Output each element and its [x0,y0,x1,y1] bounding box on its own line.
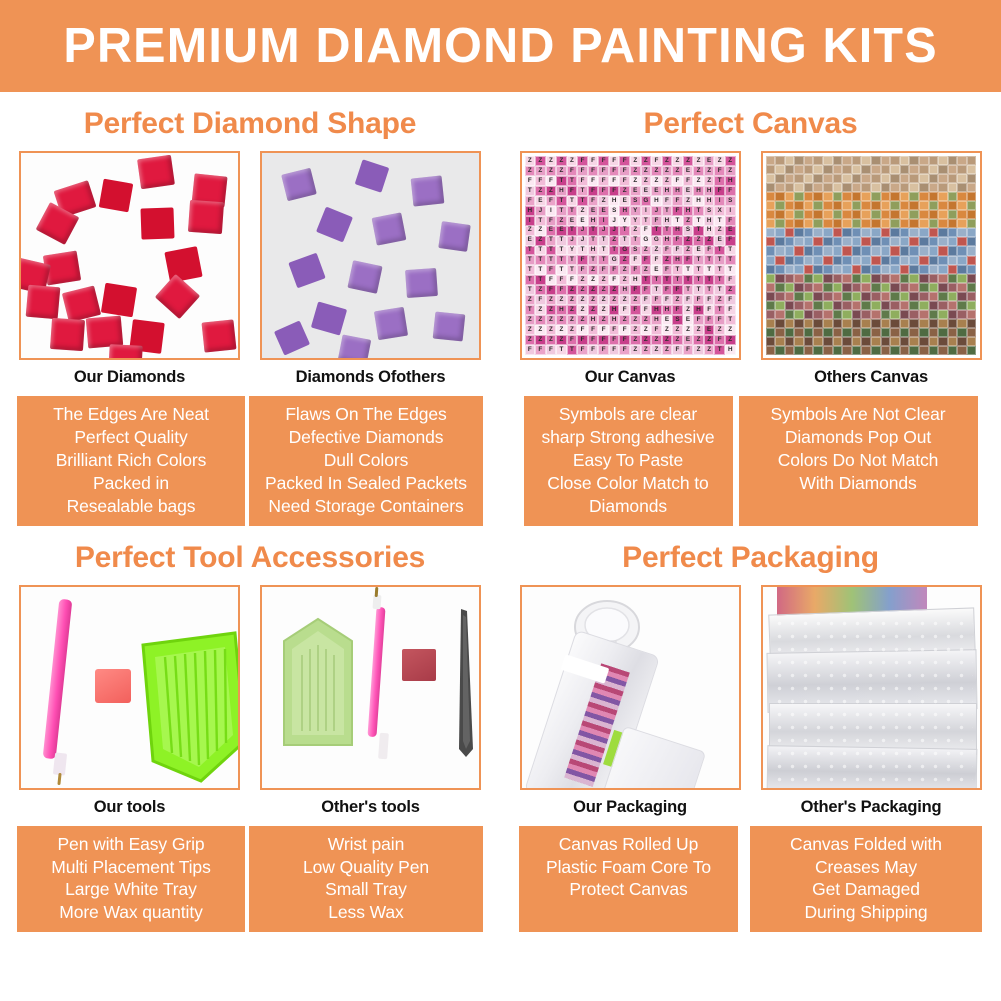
canvas-symbol-cell: Z [577,285,588,295]
canvas-symbol-cell: T [683,265,694,275]
canvas-symbol-cell: T [577,196,588,206]
canvas-symbol-cell: Z [683,156,694,166]
canvas-mosaic-cell [861,328,871,337]
canvas-symbol-cell: Z [630,315,641,325]
canvas-mosaic-cell [948,174,958,183]
canvas-mosaic-cell [948,283,958,292]
canvas-mosaic-cell [804,265,814,274]
canvas-mosaic-cell [919,228,929,237]
canvas-symbol-cell: H [662,186,673,196]
canvas-mosaic-cell [861,246,871,255]
feature-line: Defective Diamonds [253,426,479,449]
canvas-mosaic-cell [881,274,891,283]
canvas-mosaic-cell [775,292,785,301]
canvas-mosaic-cell [804,156,814,165]
canvas-mosaic-cell [785,156,795,165]
canvas-mosaic-cell [804,283,814,292]
canvas-symbol-cell: Z [704,166,715,176]
canvas-mosaic-cell [871,174,881,183]
feature-line: Large White Tray [21,878,241,901]
canvas-symbol-cell: T [525,186,536,196]
panel-our-canvas-features: Symbols are clear sharp Strong adhesive … [524,396,733,526]
canvas-symbol-cell: F [598,265,609,275]
canvas-symbol-cell: Z [662,325,673,335]
feature-line: Perfect Quality [21,426,241,449]
canvas-mosaic-cell [909,346,919,355]
canvas-symbol-cell: E [683,335,694,345]
canvas-symbol-cell: F [714,335,725,345]
canvas-symbol-cell: T [714,285,725,295]
canvas-symbol-cell: T [556,246,567,256]
canvas-mosaic-cell [861,301,871,310]
canvas-symbol-cell: Z [588,275,599,285]
canvas-symbol-cell: F [662,265,673,275]
canvas-symbol-cell: T [556,176,567,186]
feature-line: Symbols are clear [528,403,729,426]
canvas-mosaic-cell [909,183,919,192]
canvas-mosaic-cell [938,283,948,292]
canvas-mosaic-cell [842,192,852,201]
canvas-symbol-cell: F [609,156,620,166]
canvas-symbol-cell: F [693,315,704,325]
canvas-symbol-cell: E [525,236,536,246]
canvas-mosaic-cell [842,256,852,265]
canvas-symbol-cell: F [619,325,630,335]
canvas-mosaic-cell [794,228,804,237]
canvas-mosaic-cell [804,210,814,219]
canvas-symbol-cell: J [535,206,546,216]
canvas-mosaic-cell [967,328,977,337]
canvas-symbol-cell: Z [630,335,641,345]
canvas-mosaic-cell [919,219,929,228]
canvas-mosaic-cell [775,265,785,274]
canvas-mosaic-cell [957,192,967,201]
canvas-mosaic-cell [871,165,881,174]
canvas-symbol-cell: Z [725,325,736,335]
canvas-mosaic-cell [852,228,862,237]
canvas-mosaic-cell [794,201,804,210]
canvas-symbol-cell: E [588,206,599,216]
canvas-mosaic-cell [881,219,891,228]
canvas-mosaic-cell [775,228,785,237]
canvas-mosaic-cell [813,292,823,301]
canvas-mosaic-cell [900,337,910,346]
canvas-mosaic-cell [957,292,967,301]
canvas-mosaic-cell [823,174,833,183]
canvas-symbol-cell: Z [619,275,630,285]
canvas-symbol-cell: F [672,285,683,295]
canvas-symbol-cell: E [556,226,567,236]
canvas-symbol-cell: Z [672,166,683,176]
canvas-mosaic-cell [890,319,900,328]
canvas-mosaic-cell [823,310,833,319]
canvas-mosaic-cell [785,174,795,183]
canvas-mosaic-cell [957,183,967,192]
canvas-symbol-cell: F [725,305,736,315]
canvas-mosaic-cell [929,210,939,219]
section-title-diamond-shape: Perfect Diamond Shape [0,92,500,151]
section-packaging: Perfect Packaging [500,526,1001,933]
canvas-mosaic-cell [813,210,823,219]
canvas-symbol-cell: Z [714,325,725,335]
canvas-symbol-cell: H [630,275,641,285]
canvas-symbol-cell: T [651,275,662,285]
canvas-mosaic-cell [967,337,977,346]
canvas-mosaic-cell [900,228,910,237]
canvas-symbol-cell: Z [598,295,609,305]
canvas-symbol-cell: T [693,275,704,285]
canvas-symbol-cell: T [714,345,725,355]
canvas-symbol-cell: Z [662,345,673,355]
canvas-symbol-cell: Z [683,196,694,206]
canvas-symbol-cell: E [662,315,673,325]
canvas-symbol-cell: F [598,166,609,176]
feature-line: Symbols Are Not Clear [743,403,974,426]
canvas-mosaic-cell [833,301,843,310]
canvas-symbol-cell: H [609,196,620,206]
canvas-mosaic-cell [929,274,939,283]
feature-line: Easy To Paste [528,449,729,472]
canvas-mosaic-cell [919,192,929,201]
canvas-symbol-cell: F [577,156,588,166]
canvas-mosaic-cell [813,328,823,337]
canvas-symbol-cell: T [662,206,673,216]
canvas-mosaic-cell [861,292,871,301]
canvas-mosaic-cell [842,174,852,183]
canvas-symbol-cell: E [641,186,652,196]
canvas-symbol-cell: Z [704,236,715,246]
canvas-symbol-cell: F [651,156,662,166]
panel-other-canvas-features: Symbols Are Not Clear Diamonds Pop Out C… [739,396,978,526]
canvas-symbol-cell: S [725,196,736,206]
canvas-mosaic-cell [881,210,891,219]
canvas-symbol-cell: F [546,196,557,206]
canvas-symbol-cell: Z [619,295,630,305]
canvas-symbol-cell: F [704,305,715,315]
canvas-mosaic-cell [766,201,776,210]
feature-line: Protect Canvas [523,878,734,901]
canvas-symbol-cell: H [609,315,620,325]
canvas-mosaic-cell [794,174,804,183]
canvas-symbol-cell: E [567,216,578,226]
canvas-symbol-cell: H [619,285,630,295]
canvas-mosaic-cell [881,346,891,355]
canvas-color-mosaic [766,156,977,355]
canvas-mosaic-cell [823,274,833,283]
canvas-mosaic-cell [842,337,852,346]
canvas-mosaic-cell [938,265,948,274]
canvas-mosaic-cell [823,346,833,355]
canvas-mosaic-cell [785,165,795,174]
canvas-mosaic-cell [813,274,823,283]
canvas-mosaic-cell [919,210,929,219]
canvas-mosaic-cell [938,319,948,328]
feature-line: Close Color Match to [528,472,729,495]
canvas-mosaic-cell [794,310,804,319]
feature-line: Diamonds [528,495,729,518]
canvas-mosaic-cell [948,337,958,346]
canvas-mosaic-cell [823,265,833,274]
canvas-symbol-cell: F [588,156,599,166]
canvas-mosaic-cell [813,183,823,192]
canvas-mosaic-cell [852,337,862,346]
canvas-mosaic-cell [785,337,795,346]
canvas-mosaic-cell [785,201,795,210]
canvas-symbol-cell: F [683,295,694,305]
canvas-symbol-cell: F [577,255,588,265]
canvas-symbol-cell: F [619,305,630,315]
canvas-mosaic-cell [967,201,977,210]
canvas-symbol-cell: E [619,196,630,206]
canvas-symbol-cell: Z [630,176,641,186]
canvas-mosaic-cell [929,219,939,228]
canvas-mosaic-cell [785,210,795,219]
canvas-symbol-cell: E [546,226,557,236]
canvas-mosaic-cell [881,301,891,310]
canvas-symbol-cell: F [598,176,609,186]
canvas-mosaic-cell [938,274,948,283]
canvas-symbol-cell: F [588,325,599,335]
canvas-mosaic-cell [852,319,862,328]
feature-line: Low Quality Pen [253,856,479,879]
canvas-symbol-cell: H [525,206,536,216]
canvas-mosaic-cell [900,283,910,292]
canvas-symbol-cell: F [714,315,725,325]
canvas-symbol-cell: Z [662,255,673,265]
canvas-symbol-cell: F [546,176,557,186]
canvas-symbol-cell: F [672,206,683,216]
feature-line: Resealable bags [21,495,241,518]
canvas-mosaic-cell [871,183,881,192]
canvas-mosaic-cell [775,310,785,319]
canvas-mosaic-cell [823,256,833,265]
canvas-mosaic-cell [804,310,814,319]
canvas-symbol-cell: S [630,196,641,206]
canvas-symbol-cell: T [651,226,662,236]
canvas-mosaic-cell [890,337,900,346]
canvas-symbol-cell: S [630,246,641,256]
canvas-mosaic-cell [938,346,948,355]
canvas-mosaic-cell [900,265,910,274]
canvas-symbol-cell: Z [588,295,599,305]
canvas-symbol-cell: T [672,275,683,285]
canvas-mosaic-cell [909,283,919,292]
canvas-symbol-cell: Z [672,295,683,305]
canvas-mosaic-cell [785,346,795,355]
canvas-symbol-cell: F [546,275,557,285]
canvas-symbol-cell: Z [598,196,609,206]
canvas-symbol-cell: F [619,176,630,186]
canvas-symbol-cell: G [619,246,630,256]
canvas-symbol-cell: F [567,166,578,176]
canvas-mosaic-cell [813,156,823,165]
canvas-mosaic-cell [967,210,977,219]
canvas-symbol-cell: Z [641,345,652,355]
canvas-mosaic-cell [929,165,939,174]
text-pair-packaging: Canvas Rolled Up Plastic Foam Core To Pr… [500,817,1001,933]
canvas-mosaic-cell [948,292,958,301]
canvas-symbol-cell: F [672,305,683,315]
canvas-symbol-cell: T [641,216,652,226]
canvas-symbol-cell: T [693,226,704,236]
section-title-tools: Perfect Tool Accessories [0,526,500,585]
canvas-symbol-cell: Z [556,166,567,176]
canvas-symbol-cell: Z [693,325,704,335]
canvas-mosaic-cell [766,346,776,355]
canvas-mosaic-cell [890,156,900,165]
canvas-symbol-cell: Z [525,166,536,176]
canvas-symbol-cell: F [683,176,694,186]
canvas-mosaic-cell [871,246,881,255]
canvas-mosaic-cell [909,174,919,183]
canvas-symbol-cell: F [662,295,673,305]
canvas-mosaic-cell [871,265,881,274]
canvas-symbol-cell: Z [641,166,652,176]
canvas-symbol-cell: F [609,265,620,275]
canvas-symbol-cell: Z [556,315,567,325]
canvas-symbol-cell: F [525,196,536,206]
canvas-symbol-cell: F [704,295,715,305]
canvas-mosaic-cell [833,256,843,265]
canvas-symbol-cell: T [619,226,630,236]
canvas-symbol-cell: F [619,345,630,355]
canvas-mosaic-cell [823,337,833,346]
canvas-symbol-cell: Z [693,335,704,345]
canvas-symbol-cell: F [598,325,609,335]
canvas-symbol-cell: T [556,236,567,246]
canvas-symbol-cell: T [630,236,641,246]
canvas-mosaic-cell [852,265,862,274]
feature-line: Pen with Easy Grip [21,833,241,856]
canvas-mosaic-cell [823,292,833,301]
canvas-mosaic-cell [890,210,900,219]
canvas-mosaic-cell [919,346,929,355]
feature-line: Wrist pain [253,833,479,856]
canvas-mosaic-cell [948,237,958,246]
canvas-symbol-cell: S [609,206,620,216]
canvas-symbol-cell: T [598,255,609,265]
canvas-symbol-cell: Z [641,335,652,345]
canvas-mosaic-cell [929,337,939,346]
canvas-mosaic-cell [919,156,929,165]
canvas-symbol-cell: T [672,216,683,226]
canvas-symbol-cell: Z [535,305,546,315]
canvas-mosaic-cell [861,337,871,346]
canvas-mosaic-cell [785,183,795,192]
canvas-mosaic-cell [766,183,776,192]
canvas-symbol-cell: Z [630,295,641,305]
canvas-symbol-cell: H [672,255,683,265]
canvas-mosaic-cell [919,246,929,255]
canvas-mosaic-cell [938,246,948,255]
canvas-mosaic-cell [881,192,891,201]
canvas-symbol-cell: F [598,345,609,355]
canvas-mosaic-cell [967,246,977,255]
canvas-symbol-cell: G [641,236,652,246]
canvas-symbol-cell: Z [609,295,620,305]
canvas-symbol-cell: Z [577,315,588,325]
canvas-symbol-cell: T [525,246,536,256]
canvas-mosaic-cell [833,228,843,237]
canvas-symbol-cell: T [651,285,662,295]
canvas-symbol-cell: Z [619,315,630,325]
canvas-mosaic-cell [919,165,929,174]
feature-line: sharp Strong adhesive [528,426,729,449]
canvas-symbol-cell: F [662,285,673,295]
canvas-symbol-cell: H [662,236,673,246]
canvas-symbol-cell: E [651,265,662,275]
canvas-mosaic-cell [871,292,881,301]
canvas-symbol-cell: G [651,236,662,246]
canvas-mosaic-cell [775,237,785,246]
canvas-symbol-cell: T [556,206,567,216]
photo-other-packaging [761,585,982,790]
canvas-mosaic-cell [785,219,795,228]
canvas-symbol-cell: T [704,285,715,295]
canvas-mosaic-cell [833,310,843,319]
canvas-symbol-cell: Z [535,315,546,325]
canvas-mosaic-cell [957,328,967,337]
canvas-mosaic-cell [794,165,804,174]
canvas-symbol-cell: Z [630,345,641,355]
caption-other-canvas: Others Canvas [814,368,928,387]
canvas-mosaic-cell [823,156,833,165]
canvas-symbol-cell: J [609,216,620,226]
canvas-symbol-cell: F [588,186,599,196]
canvas-mosaic-cell [890,256,900,265]
canvas-symbol-cell: Z [651,345,662,355]
canvas-symbol-cell: Z [651,246,662,256]
canvas-mosaic-cell [842,310,852,319]
canvas-mosaic-cell [833,274,843,283]
canvas-mosaic-cell [804,337,814,346]
canvas-symbol-cell: F [609,176,620,186]
photo-red-square-diamonds [19,151,240,360]
canvas-mosaic-cell [909,210,919,219]
canvas-symbol-cell: S [704,206,715,216]
canvas-mosaic-cell [766,174,776,183]
canvas-symbol-cell: F [588,196,599,206]
canvas-symbol-cell: F [662,246,673,256]
canvas-mosaic-cell [929,228,939,237]
canvas-symbol-cell: T [567,255,578,265]
feature-line: With Diamonds [743,472,974,495]
canvas-mosaic-cell [938,156,948,165]
canvas-mosaic-cell [938,310,948,319]
canvas-mosaic-cell [842,328,852,337]
canvas-mosaic-cell [881,328,891,337]
canvas-symbol-cell: Z [567,295,578,305]
canvas-mosaic-cell [775,156,785,165]
canvas-mosaic-cell [900,201,910,210]
canvas-symbol-cell: Z [588,265,599,275]
canvas-mosaic-cell [766,228,776,237]
canvas-symbol-cell: F [598,156,609,166]
image-cell-other-packaging: Other's Packaging [761,585,982,817]
canvas-mosaic-cell [861,156,871,165]
caption-other-tools: Other's tools [321,798,420,817]
canvas-symbol-cell: T [525,265,536,275]
canvas-symbol-cell: H [588,216,599,226]
canvas-symbol-cell: Z [546,186,557,196]
canvas-mosaic-cell [929,246,939,255]
canvas-mosaic-cell [842,346,852,355]
canvas-mosaic-cell [842,156,852,165]
canvas-mosaic-cell [794,237,804,246]
canvas-symbol-cell: Z [535,335,546,345]
canvas-symbol-cell: Z [535,186,546,196]
canvas-symbol-cell: F [704,315,715,325]
